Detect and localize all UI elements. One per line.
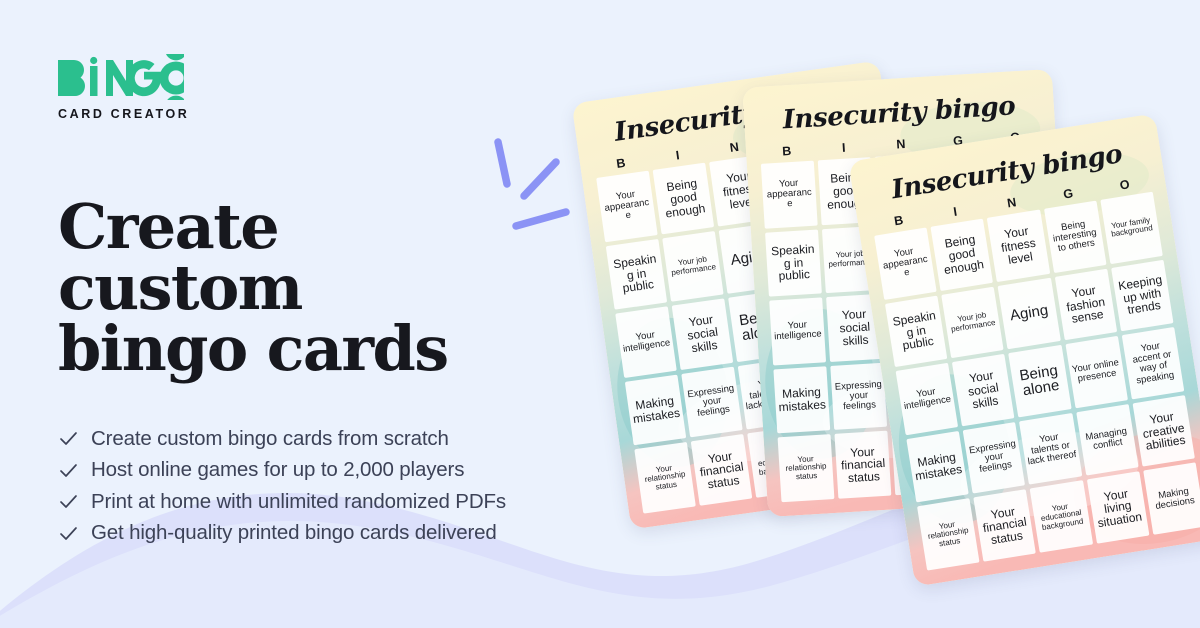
bingo-cell[interactable]: Your social skills — [672, 298, 734, 369]
bingo-cell[interactable]: Your fitness level — [987, 210, 1050, 282]
bingo-grid: Your appearanceBeing good enoughYour fit… — [874, 192, 1200, 571]
bingo-cell[interactable]: Making mistakes — [906, 431, 969, 503]
logo-subtitle: CARD CREATOR — [58, 107, 258, 121]
feature-item: Print at home with unlimited randomized … — [58, 486, 618, 518]
sparkle-icon — [478, 134, 574, 244]
feature-list: Create custom bingo cards from scratch H… — [58, 423, 618, 549]
bingo-cell[interactable]: Your creative abilities — [1132, 395, 1195, 467]
feature-label: Host online games for up to 2,000 player… — [91, 460, 464, 481]
brand-logo[interactable]: CARD CREATOR — [58, 52, 258, 121]
bingo-cell[interactable]: Your living situation — [1087, 472, 1150, 544]
card-title: Insecurity bingo — [757, 90, 1040, 137]
bingo-cell[interactable]: Making mistakes — [773, 366, 830, 434]
bingo-cell[interactable]: Your financial status — [835, 431, 892, 499]
feature-label: Get high-quality printed bingo cards del… — [91, 523, 497, 544]
bingo-cell[interactable]: Your intelligence — [896, 363, 959, 435]
check-icon — [58, 429, 78, 449]
bingo-letter: B — [760, 143, 814, 160]
feature-item: Get high-quality printed bingo cards del… — [58, 518, 618, 550]
bingo-card-front: Insecurity bingo B I N G O Your appearan… — [848, 113, 1200, 586]
feature-item: Create custom bingo cards from scratch — [58, 423, 618, 455]
headline-line-1: Create custom — [58, 190, 302, 324]
bingo-cell[interactable]: Your online presence — [1065, 336, 1128, 408]
page-title: Create custom bingo cards — [58, 197, 528, 379]
check-icon — [58, 524, 78, 544]
bingo-cell[interactable]: Making mistakes — [625, 374, 687, 445]
bingo-cell[interactable]: Expressing your feelings — [681, 366, 743, 437]
bingo-cell[interactable]: Your appearance — [761, 161, 818, 229]
bingo-cell[interactable]: Your financial status — [974, 489, 1037, 561]
feature-label: Create custom bingo cards from scratch — [91, 429, 449, 450]
bingo-cell[interactable]: Aging — [998, 277, 1061, 349]
bingo-cell[interactable]: Your job performance — [662, 231, 724, 302]
feature-label: Print at home with unlimited randomized … — [91, 492, 506, 513]
bingo-letter: I — [817, 139, 871, 156]
bingo-cell[interactable]: Your social skills — [952, 354, 1015, 426]
bingo-cell[interactable]: Expressing your feelings — [830, 363, 887, 431]
bingo-cell[interactable]: Your fashion sense — [1054, 268, 1117, 340]
bingo-cell[interactable]: Your accent or way of speaking — [1122, 327, 1185, 399]
bingo-cell[interactable]: Your talents or lack thereof — [1019, 413, 1082, 485]
bingo-cell[interactable]: Your financial status — [691, 434, 753, 505]
bingo-cell[interactable]: Your intelligence — [769, 298, 826, 366]
bingo-cell[interactable]: Being good enough — [931, 218, 994, 290]
bingo-cell[interactable]: Your relationship status — [778, 434, 835, 502]
bingo-card-stack: Insecurity bingo B I N G O Your appearan… — [560, 0, 1200, 628]
check-icon — [58, 461, 78, 481]
bingo-logo-icon — [58, 52, 184, 100]
check-icon — [58, 492, 78, 512]
feature-item: Host online games for up to 2,000 player… — [58, 455, 618, 487]
bingo-cell[interactable]: Being alone — [1009, 345, 1072, 417]
bingo-cell[interactable]: Being interesting to others — [1044, 201, 1107, 273]
bingo-cell[interactable]: Managing conflict — [1076, 404, 1139, 476]
bingo-cell[interactable]: Being good enough — [653, 163, 715, 234]
hero-content: CARD CREATOR Create custom bingo cards C… — [58, 52, 618, 549]
bingo-cell[interactable]: Speaking in public — [885, 295, 948, 367]
sparkle-decoration — [478, 134, 574, 249]
bingo-cell[interactable]: Expressing your feelings — [963, 422, 1026, 494]
bingo-cell[interactable]: Speaking in public — [765, 229, 822, 297]
bingo-cell[interactable]: Your intelligence — [615, 306, 677, 377]
headline-line-2: bingo cards — [58, 312, 448, 385]
bingo-cell[interactable]: Your family background — [1100, 192, 1163, 264]
bingo-cell[interactable]: Keeping up with trends — [1111, 259, 1174, 331]
bingo-cell[interactable]: Your appearance — [874, 227, 937, 299]
bingo-cell[interactable]: Your educational background — [1030, 481, 1093, 553]
bingo-cell[interactable]: Making decisions — [1143, 463, 1200, 535]
bingo-cell[interactable]: Your relationship status — [634, 442, 696, 513]
bingo-cell[interactable]: Your relationship status — [917, 498, 980, 570]
bingo-cell[interactable]: Your job performance — [941, 286, 1004, 358]
